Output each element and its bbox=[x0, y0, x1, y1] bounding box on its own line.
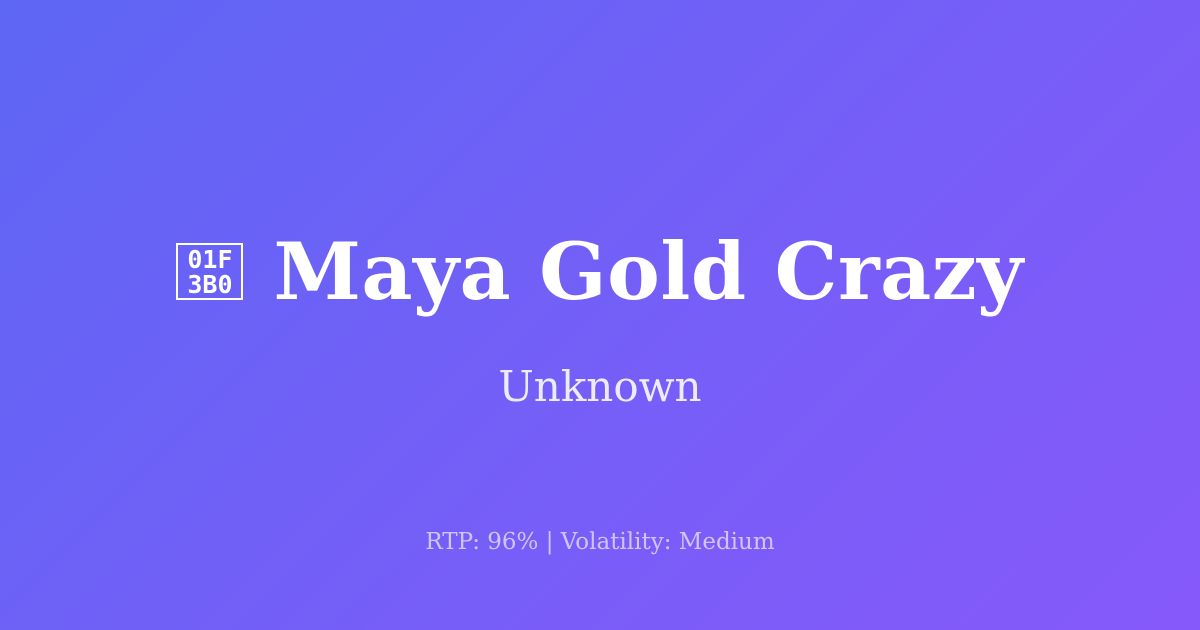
provider-subtitle: Unknown bbox=[0, 363, 1200, 411]
slot-machine-icon: 01F 3B0 bbox=[176, 243, 243, 300]
game-meta-line: RTP: 96% | Volatility: Medium bbox=[0, 528, 1200, 556]
tofu-codepoint-top: 01F bbox=[187, 247, 232, 272]
page-title: Maya Gold Crazy bbox=[273, 232, 1023, 311]
title-line: 01F 3B0 Maya Gold Crazy bbox=[176, 232, 1023, 311]
game-hero-card: 01F 3B0 Maya Gold Crazy Unknown RTP: 96%… bbox=[0, 0, 1200, 630]
tofu-codepoint-bottom: 3B0 bbox=[187, 272, 232, 297]
